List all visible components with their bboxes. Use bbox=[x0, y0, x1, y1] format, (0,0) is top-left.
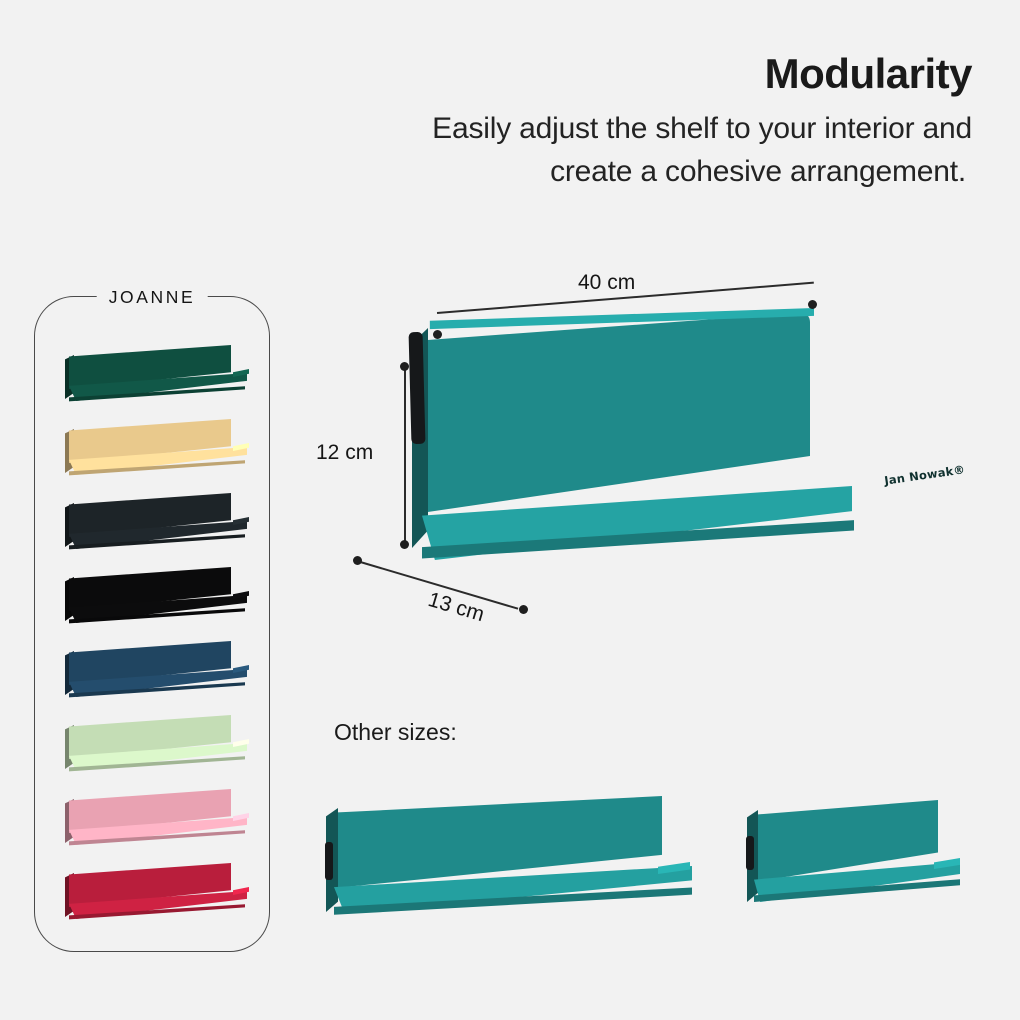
width-dimension-dot-left bbox=[433, 330, 442, 339]
page-title: Modularity bbox=[272, 52, 972, 96]
variant-mount-bracket bbox=[325, 842, 333, 880]
height-dimension-dot-bottom bbox=[400, 540, 409, 549]
header-block: Modularity Easily adjust the shelf to yo… bbox=[272, 52, 972, 193]
color-swatch-light-green[interactable] bbox=[61, 715, 251, 777]
height-dimension-label: 12 cm bbox=[316, 441, 373, 465]
color-swatch-dark-green[interactable] bbox=[61, 345, 251, 407]
variant-mount-bracket bbox=[746, 836, 754, 870]
brand-logo: Jan Nowak® bbox=[883, 462, 965, 487]
color-swatch-gold-beige[interactable] bbox=[61, 419, 251, 481]
color-swatch-pink[interactable] bbox=[61, 789, 251, 851]
page-subtitle: Easily adjust the shelf to your interior… bbox=[272, 108, 972, 193]
width-dimension-dot-right bbox=[808, 300, 817, 309]
wall-mount-bracket bbox=[409, 332, 426, 444]
color-swatch-list bbox=[35, 297, 271, 953]
depth-dimension-dot-start bbox=[353, 556, 362, 565]
subtitle-line-2: create a cohesive arrangement. bbox=[272, 151, 972, 194]
height-dimension-line bbox=[404, 366, 406, 548]
color-swatch-graphite[interactable] bbox=[61, 493, 251, 555]
subtitle-line-1: Easily adjust the shelf to your interior… bbox=[272, 108, 972, 151]
variant-shelf-short bbox=[738, 792, 960, 908]
color-swatch-red[interactable] bbox=[61, 863, 251, 925]
other-sizes-label: Other sizes: bbox=[334, 719, 457, 746]
height-dimension-dot-top bbox=[400, 362, 409, 371]
depth-dimension-dot-end bbox=[519, 605, 528, 614]
color-swatch-black[interactable] bbox=[61, 567, 251, 629]
variant-shelf-wide bbox=[314, 786, 696, 926]
width-dimension-label: 40 cm bbox=[578, 271, 635, 295]
color-swatch-frame: JOANNE bbox=[34, 296, 270, 952]
color-swatch-navy-blue[interactable] bbox=[61, 641, 251, 703]
shelf-back-panel bbox=[420, 312, 810, 512]
infographic-canvas: Modularity Easily adjust the shelf to yo… bbox=[0, 0, 1020, 1020]
